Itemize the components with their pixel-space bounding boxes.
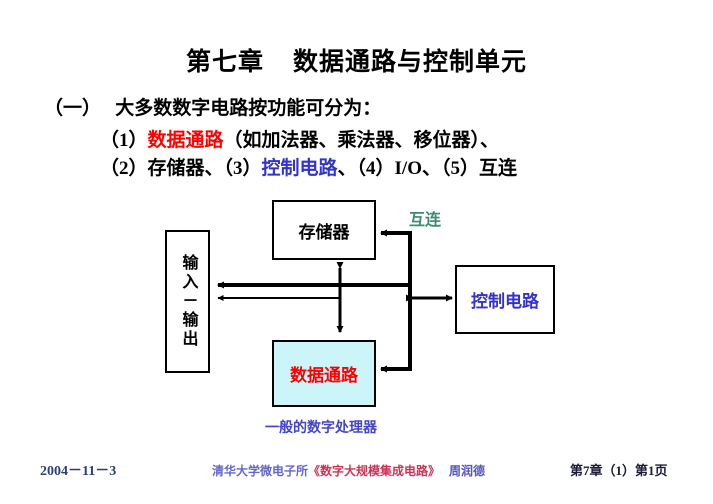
diagram-box-datapath[interactable]: 数据通路 xyxy=(272,340,376,407)
footer-date: 2004－11－3 xyxy=(40,460,116,480)
diagram-caption: 一般的数字处理器 xyxy=(265,417,377,437)
diagram-box-memory[interactable]: 存储器 xyxy=(272,200,376,260)
body-line-3-control-term: 控制电路 xyxy=(262,158,338,179)
body-line-2-datapath-term: 数据通路 xyxy=(148,130,224,151)
slide-canvas: 第七章 数据通路与控制单元 （一） 大多数数字电路按功能可分为： （1）数据通路… xyxy=(0,0,713,504)
footer-credits: 清华大学微电子所《数字大规模集成电路》 周润德 xyxy=(212,462,485,479)
diagram-label-interconnect: 互连 xyxy=(409,206,441,230)
footer-spacer xyxy=(440,464,449,478)
body-line-3: （2）存储器、（3）控制电路、（4）I/O、（5）互连 xyxy=(100,158,517,181)
page-title: 第七章 数据通路与控制单元 xyxy=(0,42,713,78)
body-line-3-part-c: 、（4）I/O、（5）互连 xyxy=(338,158,517,179)
footer-book-title: 《数字大规模集成电路》 xyxy=(308,464,440,478)
footer-organization: 清华大学微电子所 xyxy=(212,464,308,478)
body-line-2-part-c: （如加法器、乘法器、移位器）、 xyxy=(224,130,500,151)
body-line-2-part-a: （1） xyxy=(100,130,148,151)
interconnect-trunk xyxy=(381,231,412,371)
body-line-2: （1）数据通路（如加法器、乘法器、移位器）、 xyxy=(100,130,499,153)
footer-author: 周润德 xyxy=(449,464,485,478)
body-line-3-part-a: （2）存储器、（3） xyxy=(100,158,262,179)
body-line-1: （一） 大多数数字电路按功能可分为： xyxy=(44,98,381,121)
diagram-box-io[interactable]: 输入－输出 xyxy=(165,230,210,373)
diagram-box-control[interactable]: 控制电路 xyxy=(455,265,555,334)
footer-page-number: 第7章（1）第1页 xyxy=(570,460,668,479)
